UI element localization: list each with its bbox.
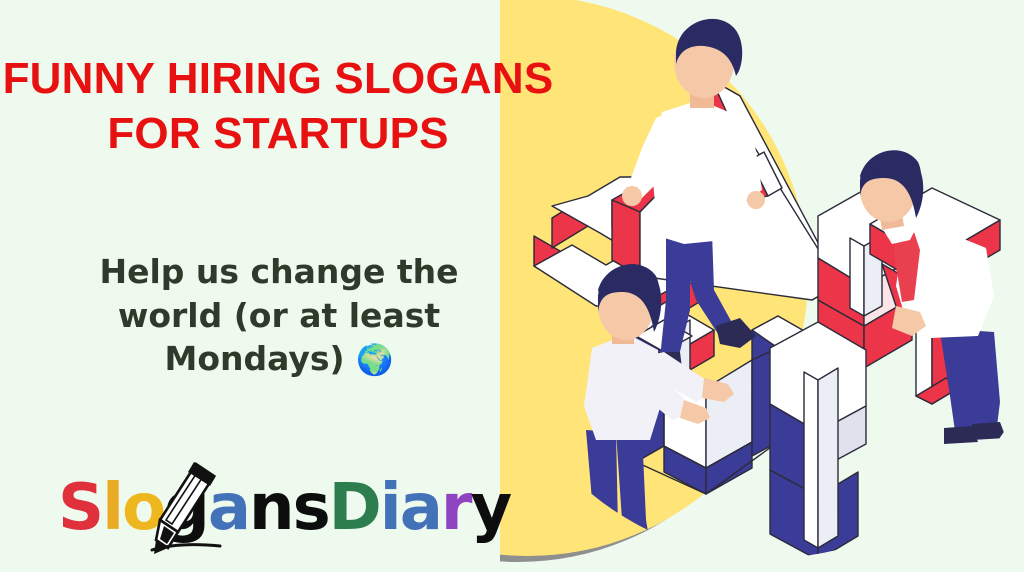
logo-letter-n: n [249,468,293,548]
subheadline: Help us change the world (or at least Mo… [24,250,534,381]
startup-letters-scene [500,0,1024,572]
subheadline-line-3-wrap: Mondays) 🌍 [24,337,534,381]
logo-letter-o: o [122,468,164,548]
logo-letter-r: r [441,468,471,548]
headline-line-2: For Startups [0,107,556,162]
logo-letter-s2: s [293,468,329,548]
subheadline-line-1: Help us change the [24,250,534,294]
illustration-panel [500,0,1024,572]
headline: Funny Hiring Slogans For Startups [0,52,556,161]
logo-letter-l: l [102,468,122,548]
headline-line-1: Funny Hiring Slogans [3,54,554,103]
globe-emoji-icon: 🌍 [356,343,393,378]
logo-letter-d: D [329,468,380,548]
slogansdiary-logo[interactable]: SlogansDiary [58,468,510,548]
logo-letter-g: g [164,468,208,548]
logo-letter-a1: a [208,468,249,548]
subheadline-line-2: world (or at least [24,294,534,338]
subheadline-line-3: Mondays) [165,339,345,378]
logo-letter-s1: S [58,468,102,548]
logo-letter-i: i [380,468,400,548]
iso-letter-p [770,322,866,560]
logo-wordmark: SlogansDiary [58,468,510,548]
logo-letter-y: y [470,468,510,548]
poster-canvas: Funny Hiring Slogans For Startups Help u… [0,0,1024,572]
logo-letter-a2: a [400,468,441,548]
